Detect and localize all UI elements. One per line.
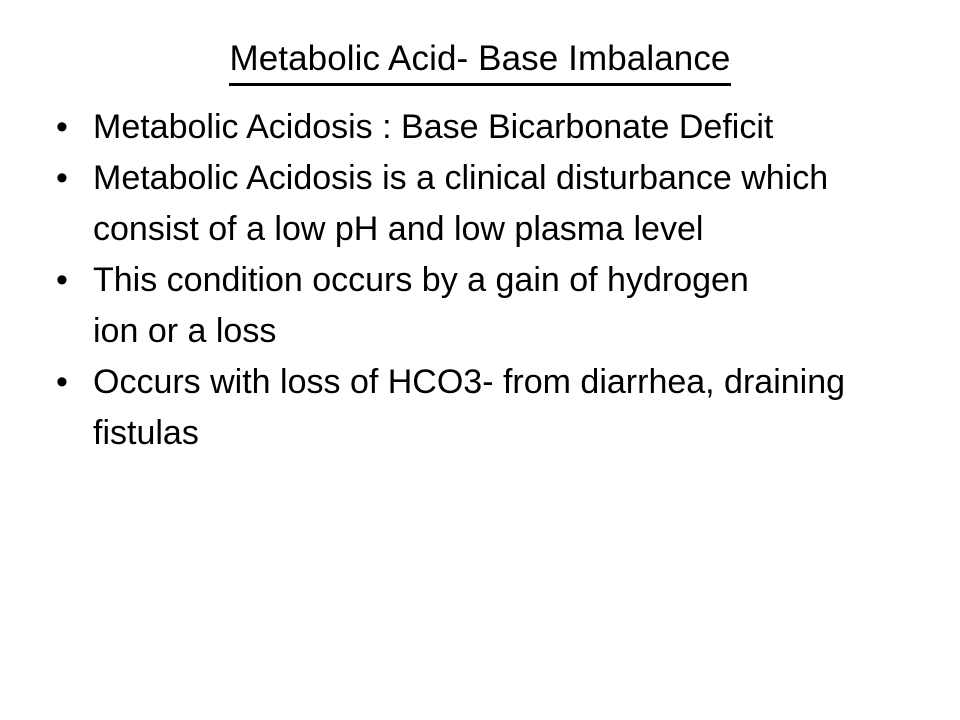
bullet-text: Occurs with loss of HCO3- from diarrhea,… [93, 357, 883, 459]
slide-title-text: Metabolic Acid- Base Imbalance [229, 38, 730, 86]
bullet-text: Metabolic Acidosis : Base Bicarbonate De… [93, 102, 893, 153]
bullet-point-icon: • [56, 153, 78, 204]
list-item: • Metabolic Acidosis : Base Bicarbonate … [50, 102, 930, 153]
bullet-point-icon: • [56, 102, 78, 153]
bullet-text: This condition occurs by a gain of hydro… [93, 255, 773, 357]
list-item: • Occurs with loss of HCO3- from diarrhe… [50, 357, 930, 459]
presentation-slide: Metabolic Acid- Base Imbalance • Metabol… [0, 0, 960, 720]
bullet-point-icon: • [56, 255, 78, 306]
slide-bullet-list: • Metabolic Acidosis : Base Bicarbonate … [50, 102, 930, 459]
list-item: • This condition occurs by a gain of hyd… [50, 255, 930, 357]
slide-title: Metabolic Acid- Base Imbalance [0, 38, 960, 86]
list-item: • Metabolic Acidosis is a clinical distu… [50, 153, 930, 255]
bullet-point-icon: • [56, 357, 78, 408]
bullet-text: Metabolic Acidosis is a clinical disturb… [93, 153, 930, 255]
